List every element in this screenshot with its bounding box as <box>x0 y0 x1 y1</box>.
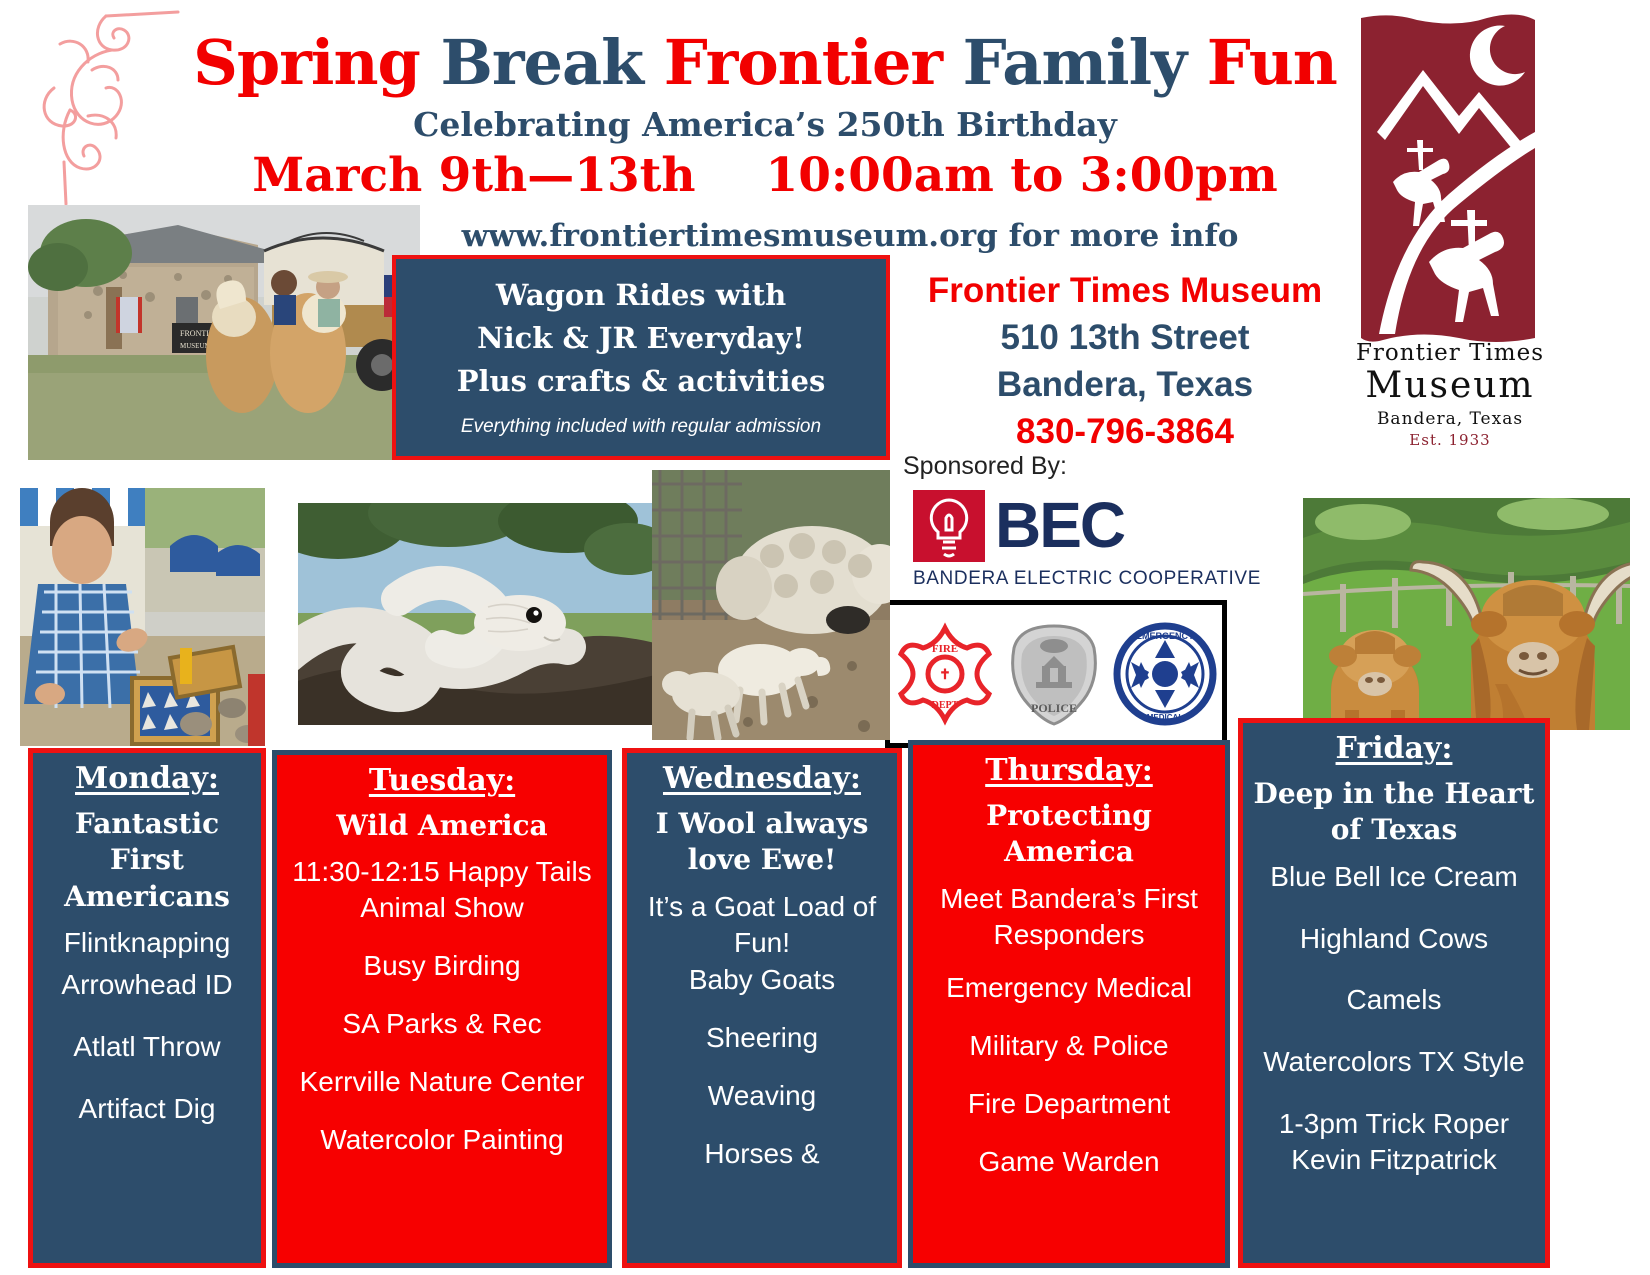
day-panel-monday: Monday: Fantastic First Americans Flintk… <box>28 748 266 1268</box>
thursday-items: Meet Bandera’s First Responders Emergenc… <box>919 881 1219 1180</box>
bec-logo: BEC <box>913 488 1188 563</box>
event-hours: 10:00am to 3:00pm <box>766 148 1278 203</box>
page-title: Spring Break Frontier Family Fun <box>190 26 1340 99</box>
list-item: Watercolors TX Style <box>1249 1044 1539 1080</box>
police-badge-icon: POLICE <box>1006 622 1102 726</box>
day-panel-thursday: Thursday: Protecting America Meet Bander… <box>908 740 1230 1268</box>
list-item: Fire Department <box>919 1086 1219 1122</box>
event-dates: March 9th—13th <box>252 148 695 203</box>
date-time-line: March 9th—13th 10:00am to 3:00pm <box>190 148 1340 203</box>
list-item: Busy Birding <box>283 948 601 984</box>
svg-text:DEPT: DEPT <box>932 700 959 711</box>
day-panel-friday: Friday: Deep in the Heart of Texas Blue … <box>1238 718 1550 1268</box>
logo-line-3: Bandera, Texas <box>1330 409 1570 429</box>
list-item: Meet Bandera’s First Responders <box>919 881 1219 953</box>
svg-text:FIRE: FIRE <box>932 643 958 655</box>
logo-line-2: Museum <box>1330 366 1570 406</box>
wagon-ride-photo: FRONTIER TIMES MUSEUM <box>28 205 420 460</box>
list-item: Highland Cows <box>1249 921 1539 957</box>
white-snake-photo <box>298 503 655 725</box>
museum-info-block: Frontier Times Museum 510 13th Street Ba… <box>900 268 1350 455</box>
list-item: Camels <box>1249 982 1539 1018</box>
title-word-2: Break <box>440 26 643 99</box>
list-item: Watercolor Painting <box>283 1122 601 1158</box>
list-item: SA Parks & Rec <box>283 1006 601 1042</box>
fire-department-badge-icon: FIRE DEPT ✝ <box>895 622 995 726</box>
thursday-title: Thursday: <box>985 753 1153 788</box>
list-item: Weaving <box>633 1078 891 1114</box>
museum-city: Bandera, Texas <box>900 361 1350 408</box>
day-panel-wednesday: Wednesday: I Wool always love Ewe! It’s … <box>622 748 902 1268</box>
highland-cows-photo <box>1303 498 1630 730</box>
emergency-medical-star-icon: EMERGENCY MEDICAL <box>1113 622 1217 726</box>
list-item: Blue Bell Ice Cream <box>1249 859 1539 895</box>
subtitle: Celebrating America’s 250th Birthday <box>190 105 1340 144</box>
bec-tagline: BANDERA ELECTRIC COOPERATIVE <box>913 568 1261 590</box>
svg-text:POLICE: POLICE <box>1031 701 1077 715</box>
list-item: Atlatl Throw <box>39 1029 255 1065</box>
logo-wordmark: Frontier Times Museum Bandera, Texas Est… <box>1330 340 1570 449</box>
bec-wordmark: BEC <box>995 495 1124 556</box>
wednesday-items: It’s a Goat Load of Fun! Baby Goats Shee… <box>633 889 891 1172</box>
sponsored-by-label: Sponsored By: <box>903 452 1067 481</box>
friday-theme: Deep in the Heart of Texas <box>1249 776 1539 849</box>
admission-note: Everything included with regular admissi… <box>461 416 821 438</box>
list-item: Kerrville Nature Center <box>283 1064 601 1100</box>
title-word-1: Spring <box>193 26 420 99</box>
list-item: Arrowhead ID <box>39 967 255 1003</box>
svg-text:✝: ✝ <box>939 668 951 683</box>
wednesday-theme: I Wool always love Ewe! <box>633 806 891 879</box>
wagon-rides-callout: Wagon Rides with Nick & JR Everyday! Plu… <box>392 255 890 460</box>
list-item: Sheering <box>633 1020 891 1056</box>
wagon-line-2: Nick & JR Everyday! <box>477 318 805 359</box>
list-item: Artifact Dig <box>39 1091 255 1127</box>
list-item: Baby Goats <box>633 962 891 998</box>
tuesday-title: Tuesday: <box>369 763 515 798</box>
flintknapping-photo <box>20 488 265 746</box>
museum-name: Frontier Times Museum <box>900 268 1350 314</box>
title-word-3: Frontier <box>664 26 942 99</box>
title-word-5: Fun <box>1207 26 1337 99</box>
day-panel-tuesday: Tuesday: Wild America 11:30-12:15 Happy … <box>272 750 612 1268</box>
monday-theme: Fantastic First Americans <box>39 806 255 915</box>
flyer-canvas: Spring Break Frontier Family Fun Celebra… <box>0 0 1650 1275</box>
svg-text:MEDICAL: MEDICAL <box>1146 713 1183 722</box>
thursday-theme: Protecting America <box>919 798 1219 871</box>
decorative-flourish-icon <box>18 0 218 206</box>
list-item: Military & Police <box>919 1028 1219 1064</box>
wagon-line-1: Wagon Rides with <box>496 275 786 316</box>
list-item: It’s a Goat Load of Fun! <box>633 889 891 961</box>
friday-title: Friday: <box>1336 731 1453 766</box>
list-item: 11:30-12:15 Happy Tails Animal Show <box>283 854 601 926</box>
lightbulb-icon <box>913 490 985 562</box>
title-word-4: Family <box>963 26 1187 99</box>
svg-text:EMERGENCY: EMERGENCY <box>1136 631 1194 641</box>
museum-phone[interactable]: 830-796-3864 <box>900 408 1350 455</box>
tuesday-items: 11:30-12:15 Happy Tails Animal Show Busy… <box>283 854 601 1157</box>
monday-items: Flintknapping Arrowhead ID Atlatl Throw … <box>39 925 255 1126</box>
wednesday-title: Wednesday: <box>663 761 861 796</box>
list-item: Game Warden <box>919 1144 1219 1180</box>
website-line[interactable]: www.frontiertimesmuseum.org for more inf… <box>380 218 1320 254</box>
list-item: Horses & <box>633 1136 891 1172</box>
logo-line-1: Frontier Times <box>1330 340 1570 366</box>
wagon-line-3: Plus crafts & activities <box>457 361 826 402</box>
museum-street: 510 13th Street <box>900 314 1350 361</box>
first-responders-badges: FIRE DEPT ✝ POLICE <box>885 600 1227 748</box>
logo-line-4: Est. 1933 <box>1330 431 1570 449</box>
list-item: Flintknapping <box>39 925 255 961</box>
friday-items: Blue Bell Ice Cream Highland Cows Camels… <box>1249 859 1539 1178</box>
tuesday-theme: Wild America <box>336 808 547 844</box>
sheep-lambs-photo <box>652 470 890 740</box>
list-item: Emergency Medical <box>919 970 1219 1006</box>
list-item: 1-3pm Trick Roper Kevin Fitzpatrick <box>1249 1106 1539 1178</box>
frontier-times-museum-logo-icon <box>1355 14 1540 344</box>
monday-title: Monday: <box>75 761 219 796</box>
